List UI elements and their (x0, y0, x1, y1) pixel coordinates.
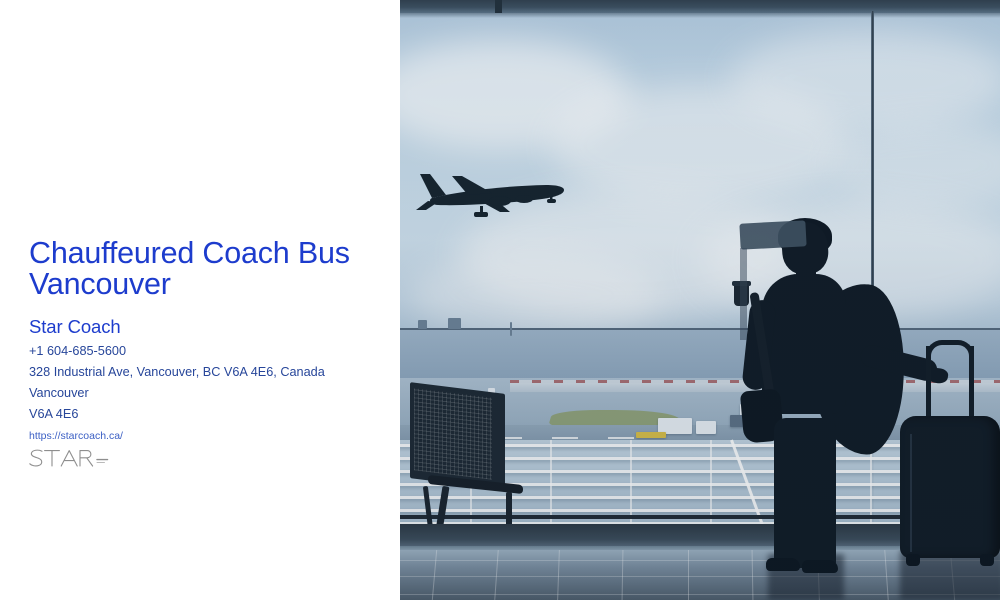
business-info-panel: Chauffeured Coach Bus Vancouver Star Coa… (0, 0, 400, 600)
business-postal-code: V6A 4E6 (29, 406, 394, 422)
person-legs (774, 418, 836, 568)
star-coach-logo (28, 447, 158, 473)
tile-line (622, 550, 624, 600)
tile-line (688, 550, 689, 600)
waist-item (739, 220, 806, 249)
tile-line (432, 550, 437, 600)
window-top-frame (400, 0, 1000, 13)
frame-notch (495, 0, 502, 13)
ground-equipment (636, 432, 666, 438)
suitcase-handle-post (969, 346, 974, 418)
cloud (730, 30, 1000, 130)
roof-unit (418, 320, 427, 329)
person-right-shoe (802, 560, 838, 573)
suitcase-seam (910, 434, 912, 552)
listing-page: Chauffeured Coach Bus Vancouver Star Coa… (0, 0, 1000, 600)
rolling-suitcase-silhouette (900, 338, 1000, 578)
lane-marking (552, 437, 578, 439)
suitcase-wheel (906, 554, 920, 566)
page-title: Chauffeured Coach Bus Vancouver (29, 238, 394, 300)
traveler-silhouette (740, 222, 920, 582)
suitcase-body (900, 416, 1000, 558)
suitcase-wheel (980, 554, 994, 566)
roof-mast (510, 322, 512, 336)
business-details: Chauffeured Coach Bus Vancouver Star Coa… (29, 238, 394, 444)
airplane-silhouette (408, 168, 588, 224)
business-city: Vancouver (29, 385, 394, 401)
business-website-link[interactable]: https://starcoach.ca/ (29, 429, 123, 443)
hero-photo (400, 0, 1000, 600)
person-leg-gap (740, 248, 747, 340)
frame-shadow (400, 13, 1000, 18)
roof-unit (448, 318, 461, 329)
service-vehicle (696, 421, 716, 434)
person-left-shoe (766, 558, 800, 571)
business-phone[interactable]: +1 604-685-5600 (29, 343, 394, 359)
business-address: 328 Industrial Ave, Vancouver, BC V6A 4E… (29, 364, 394, 380)
tile-line (557, 550, 560, 600)
suitcase-handle-post (926, 346, 931, 418)
bench-mesh-texture (414, 388, 492, 480)
suitcase-handle-grip (926, 340, 974, 356)
business-name: Star Coach (29, 316, 394, 337)
tile-line (494, 550, 498, 600)
lane-marking (608, 437, 634, 439)
